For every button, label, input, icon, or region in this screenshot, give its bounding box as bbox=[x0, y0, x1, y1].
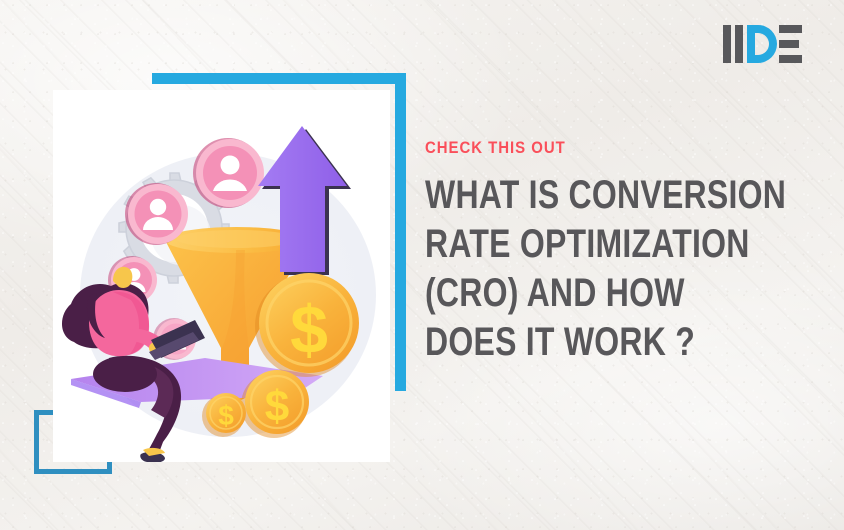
headline-block: CHECK THIS OUT WHAT IS CONVERSION RATE O… bbox=[425, 138, 830, 367]
headline-line-4: DOES IT WORK ? bbox=[425, 318, 749, 367]
svg-text:$: $ bbox=[290, 292, 328, 368]
svg-text:$: $ bbox=[218, 400, 234, 431]
logo-letter-i-2 bbox=[735, 25, 743, 63]
headline-line-2: RATE OPTIMIZATION bbox=[425, 220, 749, 269]
eyebrow-label: CHECK THIS OUT bbox=[425, 138, 781, 158]
headline-line-3: (CRO) AND HOW bbox=[425, 269, 749, 318]
banner-canvas: $ $ $ bbox=[0, 0, 844, 530]
headline-line-1: WHAT IS CONVERSION bbox=[425, 171, 749, 220]
iide-logo[interactable] bbox=[723, 23, 802, 63]
logo-letter-e bbox=[779, 25, 802, 63]
illustration-svg: $ $ $ bbox=[53, 90, 390, 462]
user-avatar-circle bbox=[193, 138, 264, 208]
logo-letter-i-1 bbox=[723, 25, 731, 63]
conversion-rate-optimization-illustration: $ $ $ bbox=[53, 90, 390, 462]
user-avatar-circle bbox=[125, 183, 188, 245]
logo-letter-d bbox=[747, 25, 777, 63]
illustration-card: $ $ $ bbox=[53, 90, 390, 462]
svg-text:$: $ bbox=[265, 382, 289, 431]
